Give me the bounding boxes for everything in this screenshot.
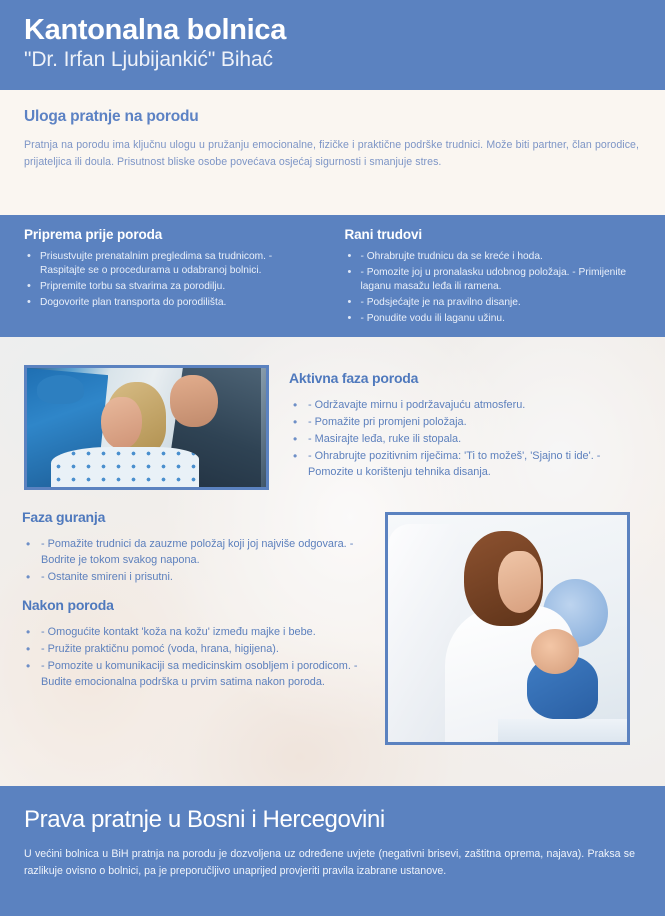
list-item: - Ostanite smireni i prisutni. xyxy=(22,569,372,585)
list-item: - Ponudite vodu ili laganu užinu. xyxy=(345,312,652,326)
block-aktivna-faza-poroda: Aktivna faza poroda - Održavajte mirnu i… xyxy=(289,370,629,481)
poster-root: Kantonalna bolnica "Dr. Irfan Ljubijanki… xyxy=(0,0,665,916)
photo-mother-breastfeeding xyxy=(385,512,630,745)
block-list: - Održavajte mirnu i podržavajuću atmosf… xyxy=(289,397,629,480)
column-heading: Rani trudovi xyxy=(345,227,652,242)
block-heading: Faza guranja xyxy=(22,509,372,525)
list-item: - Omogućite kontakt 'koža na kožu' izmeđ… xyxy=(22,624,367,640)
list-item: - Održavajte mirnu i podržavajuću atmosf… xyxy=(289,397,629,413)
preparation-band: Priprema prije poroda Prisustvujte prena… xyxy=(0,215,665,337)
list-item: - Pomozite u komunikaciji sa medicinskim… xyxy=(22,658,367,691)
column-heading: Priprema prije poroda xyxy=(24,227,319,242)
list-item: - Podsjećajte je na pravilno disanje. xyxy=(345,296,652,310)
intro-heading: Uloga pratnje na porodu xyxy=(24,108,639,126)
hospital-subtitle: "Dr. Irfan Ljubijankić" Bihać xyxy=(24,47,665,72)
block-nakon-poroda: Nakon poroda - Omogućite kontakt 'koža n… xyxy=(22,597,367,691)
block-list: - Omogućite kontakt 'koža na kožu' izmeđ… xyxy=(22,624,367,690)
footer-heading: Prava pratnje u Bosni i Hercegovini xyxy=(24,806,635,834)
list-item: - Ohrabrujte trudnicu da se kreće i hoda… xyxy=(345,250,652,264)
list-item: Prisustvujte prenatalnim pregledima sa t… xyxy=(24,250,319,279)
intro-section: Uloga pratnje na porodu Pratnja na porod… xyxy=(0,90,665,215)
list-item: Dogovorite plan transporta do porodilišt… xyxy=(24,296,319,310)
hospital-name: Kantonalna bolnica xyxy=(24,14,665,46)
poster-footer: Prava pratnje u Bosni i Hercegovini U ve… xyxy=(0,786,665,916)
column-rani-trudovi: Rani trudovi - Ohrabrujte trudnicu da se… xyxy=(333,215,665,337)
list-item: Pripremite torbu sa stvarima za porodilj… xyxy=(24,280,319,294)
middle-section: Aktivna faza poroda - Održavajte mirnu i… xyxy=(0,337,665,786)
list-item: - Pomažite trudnici da zauzme položaj ko… xyxy=(22,536,372,569)
list-item: - Masirajte leđa, ruke ili stopala. xyxy=(289,431,629,447)
list-item: - Pomažite pri promjeni položaja. xyxy=(289,414,629,430)
column-list: Prisustvujte prenatalnim pregledima sa t… xyxy=(24,250,319,311)
block-faza-guranja: Faza guranja - Pomažite trudnici da zauz… xyxy=(22,509,372,586)
block-list: - Pomažite trudnici da zauzme položaj ko… xyxy=(22,536,372,586)
photo-mother-breastfeeding-content xyxy=(388,515,627,742)
list-item: - Pomozite joj u pronalasku udobnog polo… xyxy=(345,266,652,295)
intro-paragraph: Pratnja na porodu ima ključnu ulogu u pr… xyxy=(24,137,639,170)
footer-paragraph: U većini bolnica u BiH pratnja na porodu… xyxy=(24,846,635,880)
column-list: - Ohrabrujte trudnicu da se kreće i hoda… xyxy=(345,250,652,327)
block-heading: Nakon poroda xyxy=(22,597,367,613)
poster-header: Kantonalna bolnica "Dr. Irfan Ljubijanki… xyxy=(0,0,665,90)
photo-labor-support xyxy=(24,365,269,490)
list-item: - Ohrabrujte pozitivnim riječima: 'Ti to… xyxy=(289,448,629,481)
photo-labor-support-content xyxy=(27,368,266,487)
block-heading: Aktivna faza poroda xyxy=(289,370,629,386)
column-priprema-prije-poroda: Priprema prije poroda Prisustvujte prena… xyxy=(0,215,333,337)
list-item: - Pružite praktičnu pomoć (voda, hrana, … xyxy=(22,641,367,657)
